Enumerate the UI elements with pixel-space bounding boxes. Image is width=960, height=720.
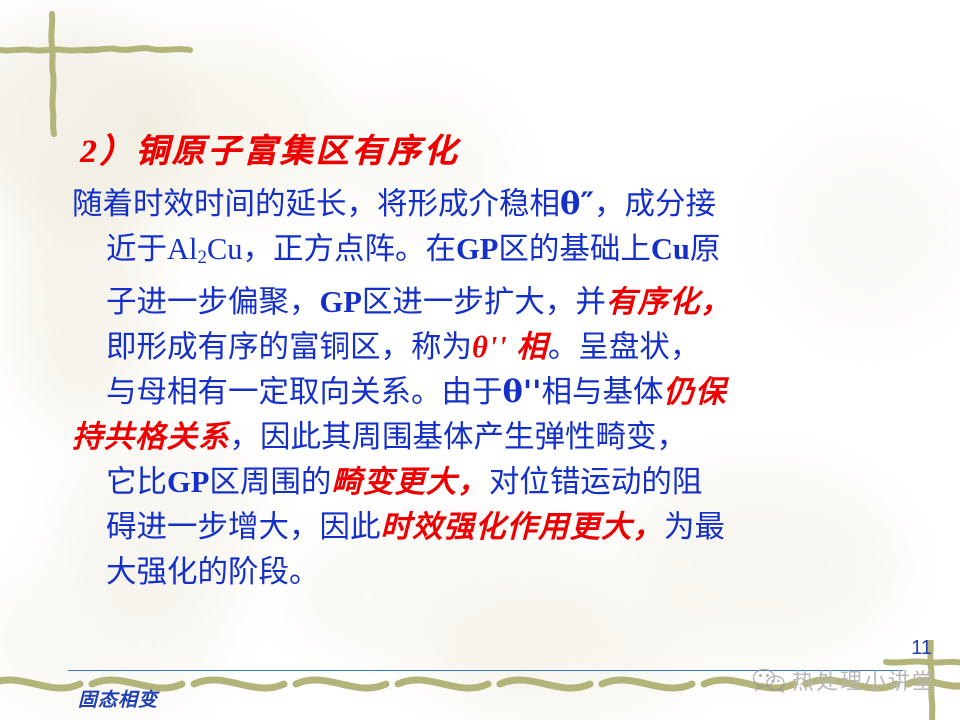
- body-line: 大强化的阶段。: [72, 550, 896, 595]
- body-line: 子进一步偏聚，GP区进一步扩大，并有序化，: [72, 280, 896, 325]
- body-text-run: 区的基础上: [498, 232, 651, 266]
- body-text-run: 子进一步偏聚，: [106, 285, 320, 319]
- term-text: GP: [320, 285, 362, 319]
- emphasis-text: 畸变更大，: [331, 465, 489, 499]
- term-text: GP: [167, 465, 209, 499]
- body-text-run: 它比: [106, 465, 167, 499]
- slide-canvas: 2）铜原子富集区有序化 随着时效时间的延长，将形成介稳相θ″，成分接近于Al2C…: [0, 0, 960, 720]
- body-text-run: ，因此其周围基体产生弹性畸变，: [230, 420, 688, 454]
- body-text-run: 碍进一步增大，因此: [106, 510, 381, 544]
- body-text-run: 相与基体: [542, 375, 664, 409]
- body-line: 即形成有序的富铜区，称为θ'' 相。呈盘状，: [72, 325, 896, 370]
- body-line: 近于Al2Cu，正方点阵。在GP区的基础上Cu原: [72, 227, 896, 280]
- slide-body-text: 随着时效时间的延长，将形成介稳相θ″，成分接近于Al2Cu，正方点阵。在GP区的…: [72, 182, 896, 595]
- watermark-text: 热处理小讲堂: [792, 664, 936, 696]
- emphasis-text: 时效强化作用更大，: [381, 510, 665, 544]
- watermark: 热处理小讲堂: [752, 664, 936, 696]
- body-text-run: 近于: [106, 232, 167, 266]
- body-line: 随着时效时间的延长，将形成介稳相θ″，成分接: [72, 182, 896, 227]
- body-text-run: 与母相有一定取向关系。由于: [106, 375, 503, 409]
- body-text-run: ，正方点阵。在: [243, 232, 457, 266]
- body-text-run: 即形成有序的富铜区，称为: [106, 330, 472, 364]
- body-text-run: 原: [690, 232, 721, 266]
- emphasis-text: 持共格关系: [72, 420, 230, 454]
- page-number: 11: [911, 637, 932, 660]
- emphasis-text: θ'' 相: [472, 330, 548, 364]
- body-text-run: 区进一步扩大，并: [362, 285, 606, 319]
- body-line: 持共格关系，因此其周围基体产生弹性畸变，: [72, 415, 896, 460]
- body-line: 碍进一步增大，因此时效强化作用更大，为最: [72, 505, 896, 550]
- emphasis-text: 有序化，: [606, 285, 732, 319]
- footer-divider: [68, 670, 903, 671]
- body-text-run: 区周围的: [209, 465, 331, 499]
- body-text-run: ，成分接: [594, 187, 716, 221]
- subscript-text: 2: [198, 247, 207, 268]
- body-line: 与母相有一定取向关系。由于θ''相与基体仍保: [72, 370, 896, 415]
- body-line: 它比GP区周围的畸变更大，对位错运动的阻: [72, 460, 896, 505]
- footer-course-label: 固态相变: [78, 685, 158, 712]
- formula-text: Al: [167, 232, 198, 266]
- phase-symbol: θ'': [503, 374, 542, 410]
- body-text-run: 为最: [664, 510, 725, 544]
- phase-symbol: θ″: [560, 186, 594, 222]
- emphasis-text: 仍保: [664, 375, 727, 409]
- term-text: GP: [456, 232, 498, 266]
- body-text-run: 对位错运动的阻: [489, 465, 703, 499]
- term-text: Cu: [651, 232, 690, 266]
- body-text-run: 随着时效时间的延长，将形成介稳相: [72, 187, 560, 221]
- body-text-run: 。呈盘状，: [548, 330, 701, 364]
- slide-title: 2）铜原子富集区有序化: [80, 124, 460, 172]
- body-text-run: 大强化的阶段。: [106, 555, 320, 589]
- formula-text: Cu: [207, 232, 243, 266]
